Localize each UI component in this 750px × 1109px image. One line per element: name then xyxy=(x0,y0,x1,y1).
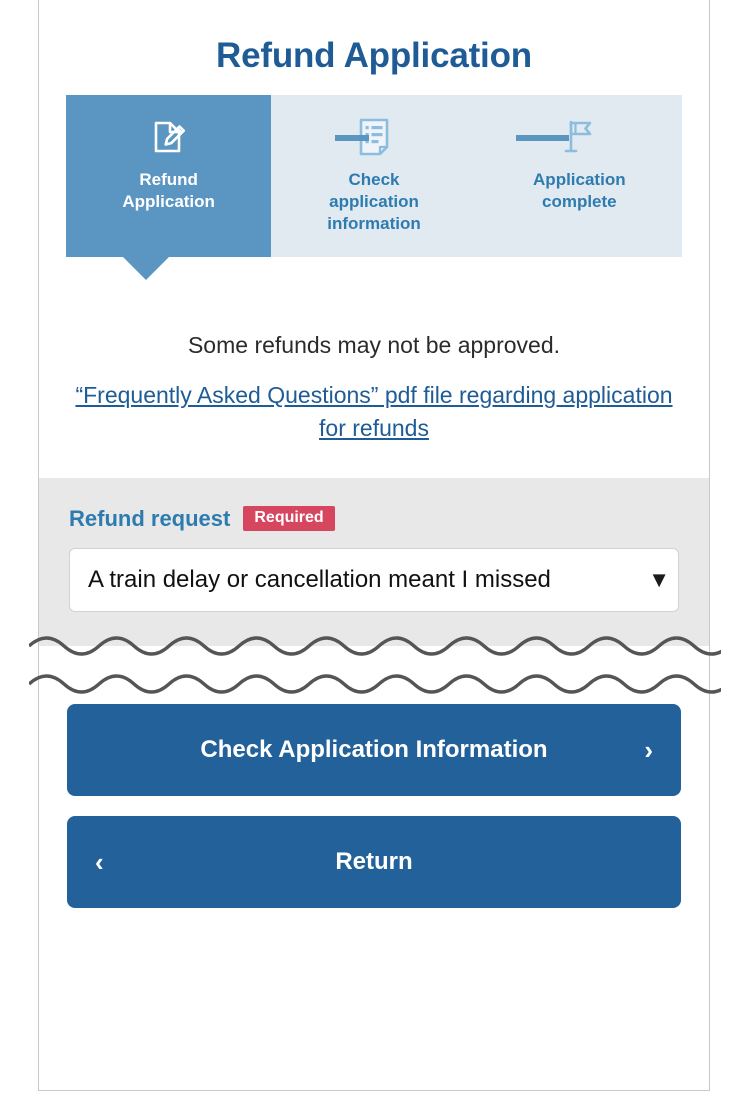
chevron-right-icon: › xyxy=(644,737,653,763)
step-connector-1 xyxy=(335,135,369,141)
check-application-information-label: Check Application Information xyxy=(200,736,547,764)
return-button[interactable]: ‹ Return xyxy=(67,816,681,908)
notice-block: Some refunds may not be approved. “Frequ… xyxy=(39,257,709,446)
progress-stepper: Refund Application Check applicat xyxy=(39,95,709,257)
refund-request-form-section: Refund request Required A train delay or… xyxy=(39,478,709,646)
notice-text: Some refunds may not be approved. xyxy=(73,332,675,359)
refund-reason-select[interactable]: A train delay or cancellation meant I mi… xyxy=(69,548,679,612)
chevron-left-icon: ‹ xyxy=(95,849,104,875)
chevron-down-icon: ▼ xyxy=(648,569,670,591)
faq-pdf-link[interactable]: “Frequently Asked Questions” pdf file re… xyxy=(73,379,675,446)
content-cut-divider xyxy=(39,624,709,702)
document-pencil-icon xyxy=(149,111,189,163)
page-frame: Refund Application Refund Application xyxy=(38,0,710,1091)
step-label: Application complete xyxy=(533,169,626,213)
step-connector-2 xyxy=(516,135,569,141)
field-label-row: Refund request Required xyxy=(69,506,679,532)
page-title: Refund Application xyxy=(39,0,709,76)
refund-reason-selected-value: A train delay or cancellation meant I mi… xyxy=(88,566,652,594)
refund-request-label: Refund request xyxy=(69,506,230,532)
required-badge: Required xyxy=(243,506,334,531)
active-step-pointer xyxy=(123,257,169,280)
step-check-application-information[interactable]: Check application information xyxy=(271,95,476,257)
step-label: Refund Application xyxy=(122,169,215,213)
step-refund-application[interactable]: Refund Application xyxy=(66,95,271,257)
step-application-complete[interactable]: Application complete xyxy=(477,95,682,257)
step-label: Check application information xyxy=(327,169,421,234)
check-application-information-button[interactable]: Check Application Information › xyxy=(67,704,681,796)
action-buttons: Check Application Information › ‹ Return xyxy=(39,704,709,908)
return-label: Return xyxy=(335,848,412,876)
